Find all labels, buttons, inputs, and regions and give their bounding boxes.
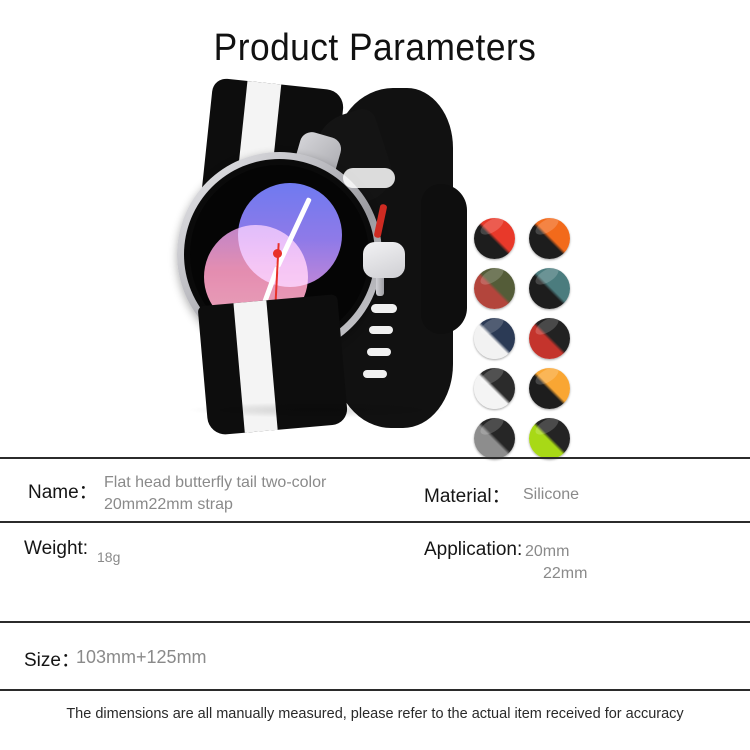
swatch-gloss: [478, 418, 506, 438]
page-title: Product Parameters: [26, 27, 724, 70]
strap-hole: [363, 370, 387, 378]
color-swatch-grid: [474, 218, 570, 468]
spec-label-name: Name：: [28, 477, 98, 504]
spec-value-name: Flat head butterfly tail two-color 20mm2…: [104, 472, 404, 516]
table-rule-bottom: [0, 689, 750, 691]
strap-tail-notch: [343, 168, 395, 188]
swatch-row: [474, 268, 570, 309]
strap-hole: [367, 348, 391, 356]
table-rule-second: [0, 521, 750, 523]
color-swatch-white-navy[interactable]: [474, 318, 515, 359]
swatch-gloss: [533, 368, 561, 388]
swatch-row: [474, 418, 570, 459]
swatch-gloss: [478, 218, 506, 238]
swatch-gloss: [478, 268, 506, 288]
table-rule-third: [0, 621, 750, 623]
color-swatch-white-black[interactable]: [474, 368, 515, 409]
color-swatch-black-orange[interactable]: [529, 218, 570, 259]
strap-hole: [369, 326, 393, 334]
swatch-gloss: [533, 418, 561, 438]
product-hero-image: [0, 82, 750, 442]
spec-value-weight: 18g: [97, 546, 120, 568]
strap-hole: [371, 304, 397, 313]
spec-label-material: Material：: [424, 481, 511, 508]
swatch-gloss: [533, 268, 561, 288]
swatch-gloss: [533, 318, 561, 338]
spec-label-application: Application:: [424, 539, 522, 561]
product-parameters-page: Product Parameters: [0, 0, 750, 750]
color-swatch-lime-black[interactable]: [529, 418, 570, 459]
color-swatch-red-olive[interactable]: [474, 268, 515, 309]
color-swatch-red-black[interactable]: [529, 318, 570, 359]
spec-value-size: 103mm+125mm: [76, 646, 207, 668]
swatch-row: [474, 318, 570, 359]
swatch-row: [474, 368, 570, 409]
spec-value-application: 20mm 22mm: [525, 541, 587, 585]
application-value-line1: 20mm: [525, 543, 569, 560]
table-rule-top: [0, 457, 750, 459]
spec-label-size: Size：: [24, 645, 80, 672]
measurement-disclaimer: The dimensions are all manually measured…: [0, 706, 750, 722]
strap-keeper-loop: [363, 242, 405, 278]
swatch-row: [474, 218, 570, 259]
swatch-gloss: [478, 318, 506, 338]
product-shadow: [187, 402, 447, 418]
color-swatch-grey-black[interactable]: [474, 418, 515, 459]
swatch-gloss: [478, 368, 506, 388]
color-swatch-black-red[interactable]: [474, 218, 515, 259]
smartwatch-illustration: [155, 82, 475, 432]
watchface-center-pin: [273, 249, 282, 258]
application-value-line2: 22mm: [525, 563, 587, 585]
color-swatch-black-orange-2[interactable]: [529, 368, 570, 409]
spec-value-material: Silicone: [523, 484, 579, 506]
spec-label-weight: Weight:: [24, 538, 88, 560]
swatch-gloss: [533, 218, 561, 238]
color-swatch-black-teal[interactable]: [529, 268, 570, 309]
